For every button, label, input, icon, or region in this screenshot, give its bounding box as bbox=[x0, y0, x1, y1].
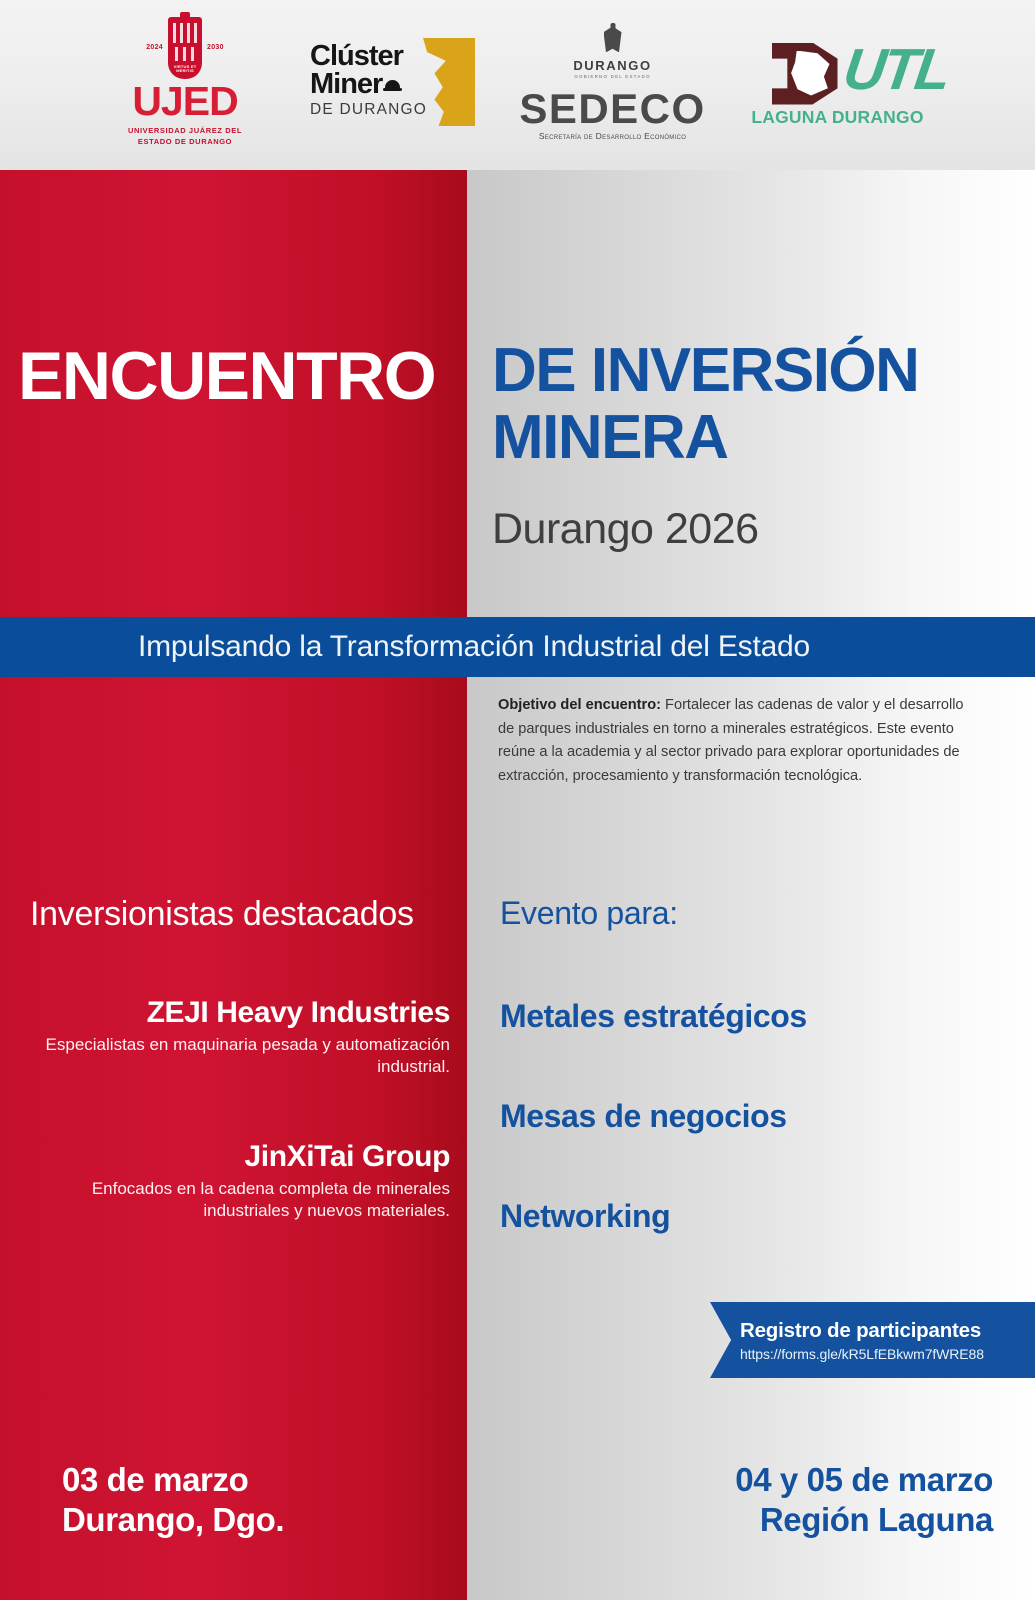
date-block-laguna: 04 y 05 de marzo Región Laguna bbox=[735, 1460, 993, 1541]
investor-item: JinXiTai Group Enfocados en la cadena co… bbox=[30, 1140, 450, 1222]
event-poster: 2024 VIRTUS ET MERITIS 2030 UJED UNIVERS… bbox=[0, 0, 1035, 1600]
event-for-item: Networking bbox=[500, 1198, 670, 1235]
title-edition: Durango 2026 bbox=[492, 508, 918, 551]
investor-name: ZEJI Heavy Industries bbox=[30, 996, 450, 1029]
ujed-subtitle-line2: ESTADO DE DURANGO bbox=[128, 136, 242, 147]
logo-sedeco: DURANGO GOBIERNO DEL ESTADO SEDECO Secre… bbox=[515, 23, 710, 140]
cluster-line1: Clúster bbox=[310, 42, 427, 70]
sponsor-logo-bar: 2024 VIRTUS ET MERITIS 2030 UJED UNIVERS… bbox=[0, 0, 1035, 170]
ujed-crest-row: 2024 VIRTUS ET MERITIS 2030 bbox=[146, 17, 224, 79]
sedeco-state: DURANGO bbox=[573, 58, 651, 73]
cluster-wordmark: Clúster Miner DE DURANGO bbox=[310, 42, 427, 119]
logo-cluster-minero: Clúster Miner DE DURANGO bbox=[300, 32, 475, 132]
tagline-text: Impulsando la Transformación Industrial … bbox=[138, 630, 810, 664]
utl-subtitle: LAGUNA DURANGO bbox=[751, 107, 923, 128]
tagline-banner: Impulsando la Transformación Industrial … bbox=[0, 617, 1035, 677]
ujed-subtitle: UNIVERSIDAD JUÁREZ DEL ESTADO DE DURANGO bbox=[128, 125, 242, 148]
title-line-minera: MINERA bbox=[492, 405, 918, 472]
title-word-encuentro: ENCUENTRO bbox=[18, 342, 435, 410]
sedeco-government: GOBIERNO DEL ESTADO bbox=[574, 74, 650, 79]
date-laguna-date: 04 y 05 de marzo bbox=[735, 1460, 993, 1500]
ujed-year-left: 2024 bbox=[146, 44, 163, 51]
title-right-group: DE INVERSIÓN MINERA Durango 2026 bbox=[492, 338, 918, 551]
cluster-line2-row: Miner bbox=[310, 70, 427, 98]
sedeco-subtitle: Secretaría de Desarrollo Económico bbox=[539, 131, 686, 141]
investor-item: ZEJI Heavy Industries Especialistas en m… bbox=[30, 996, 450, 1078]
ujed-year-right: 2030 bbox=[207, 44, 224, 51]
date-block-durango: 03 de marzo Durango, Dgo. bbox=[62, 1460, 284, 1541]
objective-label: Objetivo del encuentro: bbox=[498, 697, 661, 713]
utl-acronym: UTL bbox=[839, 41, 951, 99]
registration-title: Registro de participantes bbox=[740, 1319, 1035, 1343]
investor-name: JinXiTai Group bbox=[30, 1140, 450, 1173]
title-line-inversion: DE INVERSIÓN bbox=[492, 338, 918, 405]
date-laguna-place: Región Laguna bbox=[735, 1500, 993, 1540]
cluster-line2: Miner bbox=[310, 70, 382, 98]
event-for-item: Mesas de negocios bbox=[500, 1098, 787, 1135]
logo-utl-laguna: UTL LAGUNA DURANGO bbox=[750, 37, 925, 128]
durango-state-shape-icon bbox=[423, 38, 475, 126]
investors-heading: Inversionistas destacados bbox=[30, 895, 450, 934]
ujed-acronym: UJED bbox=[132, 81, 237, 122]
objective-paragraph: Objetivo del encuentro: Fortalecer las c… bbox=[498, 694, 976, 789]
logo-ujed: 2024 VIRTUS ET MERITIS 2030 UJED UNIVERS… bbox=[110, 17, 260, 148]
ujed-shield-icon: VIRTUS ET MERITIS bbox=[168, 17, 202, 79]
investor-description: Enfocados en la cadena completa de miner… bbox=[30, 1178, 450, 1222]
date-durango-place: Durango, Dgo. bbox=[62, 1500, 284, 1540]
registration-banner[interactable]: Registro de participantes https://forms.… bbox=[710, 1302, 1035, 1378]
ujed-shield-top bbox=[180, 12, 190, 20]
ujed-subtitle-line1: UNIVERSIDAD JUÁREZ DEL bbox=[128, 125, 242, 136]
investor-description: Especialistas en maquinaria pesada y aut… bbox=[30, 1034, 450, 1078]
cluster-line3: DE DURANGO bbox=[310, 101, 427, 119]
mining-helmet-icon bbox=[383, 77, 402, 92]
event-for-heading: Evento para: bbox=[500, 895, 678, 932]
durango-government-crest-icon bbox=[598, 23, 628, 57]
registration-url[interactable]: https://forms.gle/kR5LfEBkwm7fWRE88 bbox=[740, 1346, 1035, 1362]
sedeco-acronym: SEDECO bbox=[519, 90, 705, 128]
ujed-motto: VIRTUS ET MERITIS bbox=[168, 65, 202, 74]
date-durango-date: 03 de marzo bbox=[62, 1460, 284, 1500]
event-for-item: Metales estratégicos bbox=[500, 998, 807, 1035]
